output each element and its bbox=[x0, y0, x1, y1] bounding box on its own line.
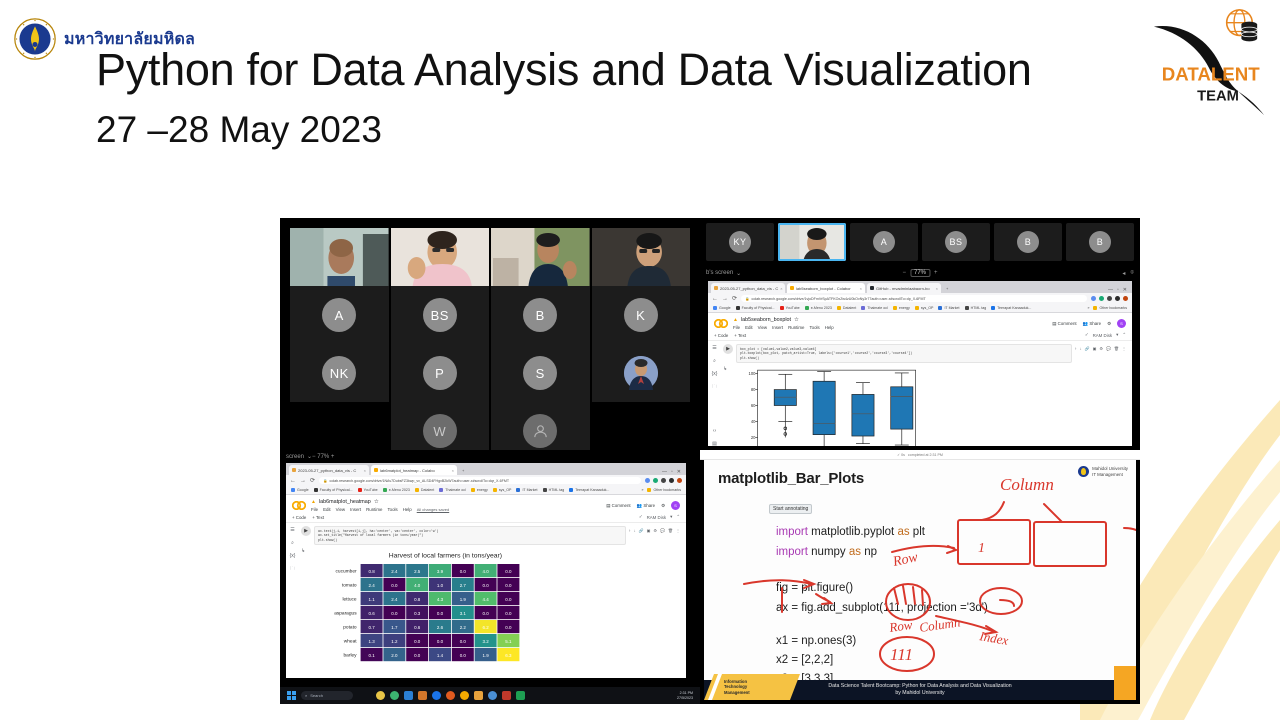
url-text: colab.research.google.com/drive/1NAv7Dub… bbox=[330, 479, 510, 483]
store-icon[interactable] bbox=[418, 691, 427, 700]
browser-tab-active[interactable]: lab5seaborn_boxplot - Colabor× bbox=[787, 283, 865, 293]
bookmark-icon bbox=[805, 306, 809, 310]
chevron-down-icon[interactable]: ▾ bbox=[1116, 332, 1118, 338]
colab-header: ▲ lab6matplot_heatmap ☆ File Edit View I… bbox=[286, 495, 686, 512]
star-icon[interactable]: ☆ bbox=[794, 317, 799, 323]
bookmark-label: sys_OP bbox=[921, 306, 934, 310]
participant-tile[interactable]: NK bbox=[290, 344, 389, 402]
heatmap-cell-value: 0.1 bbox=[368, 653, 375, 658]
bookmark-label: Faculty of Physical... bbox=[742, 306, 775, 310]
colab-actions: ▤ Comment 👥 Share ⚙ S bbox=[1052, 319, 1126, 328]
bookmarks-bar: Google Faculty of Physical... YouTube e-… bbox=[286, 486, 686, 495]
chevron-down-icon[interactable]: ▾ bbox=[670, 514, 672, 520]
bookmark-item[interactable]: Google bbox=[291, 488, 309, 492]
code-cell: ▶ ax.text(j,i, harvest[i,j], ha='center'… bbox=[301, 526, 680, 545]
colab-cell-toolbar: + Code + Text ✓ RAM Disk ▾ ⌃ bbox=[708, 330, 1132, 341]
heatmap-row-label: tomato bbox=[342, 583, 357, 589]
extension-icon[interactable] bbox=[1107, 296, 1112, 301]
comment-button[interactable]: ▤ Comment bbox=[1052, 321, 1076, 327]
colab-cell-toolbar: + Code + Text ✓ RAM Disk ▾ ⌃ bbox=[286, 512, 686, 523]
filmstrip-tile-active-speaker[interactable] bbox=[778, 223, 846, 261]
close-icon[interactable]: × bbox=[860, 286, 862, 291]
share-button[interactable]: 👥 Share bbox=[637, 503, 655, 509]
colab-body: ☰ ⌕ {x} 🗀 ▶ ax.text(j,i, harvest[i,j], h… bbox=[286, 523, 686, 678]
teams-icon[interactable] bbox=[488, 691, 497, 700]
bookmarks-overflow: » Other bookmarks bbox=[1087, 306, 1127, 310]
add-text-cell-button[interactable]: + Text bbox=[734, 333, 746, 338]
colab-logo-icon bbox=[714, 319, 728, 328]
annotation-111-circled: 111 bbox=[890, 645, 913, 664]
tag-line-3: Management bbox=[724, 690, 750, 695]
runtime-status: ✓ RAM Disk ▾ ⌃ bbox=[1085, 332, 1126, 338]
favicon-icon bbox=[292, 468, 296, 472]
bookmark-icon bbox=[938, 306, 942, 310]
brand-primary-text: DATALENT bbox=[1162, 64, 1260, 85]
colab-title-area: ▲ lab6matplot_heatmap ☆ File Edit View I… bbox=[311, 499, 601, 512]
heatmap-cell-value: 0.0 bbox=[437, 611, 444, 616]
avatar[interactable]: S bbox=[671, 501, 680, 510]
close-icon[interactable]: × bbox=[936, 286, 938, 291]
clock-time: 2:31 PM bbox=[677, 691, 693, 696]
avatar[interactable]: S bbox=[1117, 319, 1126, 328]
bookmark-item[interactable]: Teerapat Kanaaduk... bbox=[991, 306, 1031, 310]
bookmark-item[interactable]: YouTube bbox=[780, 306, 800, 310]
more-icon[interactable]: ⋮ bbox=[1122, 346, 1126, 351]
zoom-in-button[interactable]: + bbox=[331, 454, 335, 460]
menu-help[interactable]: Help bbox=[825, 325, 834, 330]
heatmap-cell-value: 0.0 bbox=[414, 639, 421, 644]
notebook-filename-row[interactable]: ▲ lab5seaborn_boxplot ☆ bbox=[733, 317, 1047, 323]
heatmap-svg: Harvest of local farmers (in tons/year) … bbox=[311, 548, 551, 672]
maximize-icon[interactable]: ▫ bbox=[1117, 287, 1119, 293]
participant-tile[interactable]: B bbox=[491, 286, 590, 344]
svg-text:80: 80 bbox=[751, 387, 756, 392]
bookmark-item[interactable]: HTML tag bbox=[543, 488, 565, 492]
start-annotating-button[interactable]: Start annotating bbox=[769, 504, 812, 514]
heatmap-cell-value: 0.7 bbox=[368, 625, 375, 630]
weather-icon[interactable] bbox=[376, 691, 385, 700]
check-icon: ✓ bbox=[639, 514, 643, 520]
heatmap-cell-value: 4.0 bbox=[482, 569, 489, 574]
zoom-out-button[interactable]: − bbox=[902, 270, 906, 276]
zoom-level-value: 77% bbox=[910, 269, 930, 277]
menu-help[interactable]: Help bbox=[403, 507, 412, 512]
code-line-ax: ax = fig.add_subplot(111, projection ='3… bbox=[776, 598, 988, 618]
heatmap-cell-value: 4.0 bbox=[414, 583, 421, 588]
person-icon bbox=[532, 423, 549, 440]
menu-file[interactable]: File bbox=[733, 325, 740, 330]
code-editor[interactable]: ax.text(j,i, harvest[i,j], ha='center', … bbox=[314, 526, 626, 545]
powerpoint-icon[interactable] bbox=[502, 691, 511, 700]
zoom-in-button[interactable]: + bbox=[934, 270, 938, 276]
bookmark-item[interactable]: YouTube bbox=[358, 488, 378, 492]
bookmark-item[interactable]: Thaimate ocl bbox=[439, 488, 466, 492]
browser-tab[interactable]: GitHub - mvadminlaabaorn-bo× bbox=[867, 283, 941, 293]
explorer-icon[interactable] bbox=[404, 691, 413, 700]
webcam-thumbnail bbox=[592, 228, 691, 286]
delete-icon[interactable]: 🗑 bbox=[668, 528, 673, 533]
copy-icon[interactable]: ▣ bbox=[647, 528, 651, 533]
participant-tile-video-3[interactable] bbox=[491, 228, 590, 286]
itm-tag-shape bbox=[704, 674, 800, 700]
colab-left-rail: ☰ ⌕ {x} 🗀 ‹› ▤ ▣ bbox=[708, 341, 721, 446]
menu-tools[interactable]: Tools bbox=[809, 325, 819, 330]
minimize-icon[interactable]: — bbox=[662, 469, 667, 475]
slide-code-figure: fig = plt.figure() ax = fig.add_subplot(… bbox=[776, 578, 988, 618]
heatmap-row-label: asparagus bbox=[334, 611, 357, 617]
annotation-index: Index bbox=[977, 628, 1009, 648]
delete-icon[interactable]: 🗑 bbox=[1114, 346, 1119, 351]
edge-icon[interactable] bbox=[432, 691, 441, 700]
close-icon[interactable]: × bbox=[780, 286, 782, 291]
menu-view[interactable]: View bbox=[336, 507, 345, 512]
new-tab-button[interactable]: + bbox=[943, 283, 951, 293]
bookmark-label: IT Market bbox=[944, 306, 959, 310]
search-input[interactable]: ⌕ Search bbox=[301, 691, 353, 700]
profile-photo-icon bbox=[624, 356, 658, 390]
reload-icon[interactable]: ⟳ bbox=[310, 477, 315, 484]
code-line-x1: x1 = np.ones(3) bbox=[776, 632, 856, 651]
clock-date: 27/5/2023 bbox=[677, 696, 693, 701]
mahidol-seal-icon bbox=[14, 18, 56, 60]
files-icon[interactable]: 🗀 bbox=[712, 384, 717, 392]
filmstrip-tile[interactable]: B bbox=[1066, 223, 1134, 261]
bookmark-label: Thaimate ocl bbox=[445, 488, 466, 492]
heatmap-cell-value: 1.0 bbox=[437, 583, 444, 588]
participant-tile[interactable]: BS bbox=[391, 286, 490, 344]
code-line: plt.show() bbox=[318, 538, 622, 542]
comment-icon[interactable]: 💬 bbox=[660, 528, 665, 533]
profile-avatar-icon[interactable] bbox=[677, 478, 682, 483]
gear-icon[interactable]: ⚙ bbox=[1107, 321, 1111, 327]
check-icon: ✓ bbox=[1085, 332, 1089, 338]
comment-icon[interactable]: 💬 bbox=[1106, 346, 1111, 351]
menu-insert[interactable]: Insert bbox=[772, 325, 783, 330]
browser-window-heatmap: 2023-05-27_python_data_vis - C× lab6matp… bbox=[286, 463, 686, 678]
address-bar[interactable]: 🔒colab.research.google.com/drive/1vjoDFm… bbox=[741, 295, 1087, 302]
boxplot-svg: 0 20 40 60 80 100 bbox=[733, 366, 943, 446]
participant-tile[interactable]: S bbox=[491, 344, 590, 402]
chrome-icon[interactable] bbox=[460, 691, 469, 700]
add-code-cell-button[interactable]: + Code bbox=[292, 515, 306, 520]
close-icon[interactable]: ✕ bbox=[677, 469, 681, 475]
bookmark-icon bbox=[439, 488, 443, 492]
colab-actions: ▤ Comment 👥 Share ⚙ S bbox=[606, 501, 680, 510]
extension-icon[interactable] bbox=[645, 478, 650, 483]
heatmap-cell-value: 0.0 bbox=[505, 569, 512, 574]
mu-line-1: Mahidol University bbox=[1092, 466, 1128, 471]
heatmap-row-label: barley bbox=[344, 653, 358, 659]
toc-icon[interactable]: ☰ bbox=[712, 345, 716, 351]
link-icon[interactable]: 🔗 bbox=[1085, 346, 1090, 351]
speaker-icon[interactable]: ◂ bbox=[1122, 270, 1125, 277]
browser-tab-strip: 2023-05-27_python_data_vis - C× lab5seab… bbox=[708, 281, 1132, 293]
gear-icon[interactable]: ⚙ bbox=[1099, 346, 1103, 351]
bookmark-item[interactable]: sys_OP bbox=[493, 488, 512, 492]
gear-icon[interactable]: ⚙ bbox=[661, 503, 665, 509]
heatmap-cell-value: 1.3 bbox=[368, 639, 375, 644]
ram-disk-label: RAM Disk bbox=[1093, 333, 1113, 338]
menu-runtime[interactable]: Runtime bbox=[788, 325, 804, 330]
taskbar-clock[interactable]: 2:31 PM 27/5/2023 bbox=[677, 691, 693, 700]
comment-button[interactable]: ▤ Comment bbox=[606, 503, 630, 509]
bookmark-label: IT Market bbox=[522, 488, 537, 492]
bookmark-item[interactable]: Datalent bbox=[837, 306, 856, 310]
avatar: A bbox=[322, 298, 356, 332]
url-text: colab.research.google.com/drive/1vjoDFmV… bbox=[752, 297, 926, 301]
extension-icon[interactable] bbox=[661, 478, 666, 483]
bookmark-item[interactable]: HTML tag bbox=[965, 306, 987, 310]
back-icon[interactable]: ← bbox=[712, 296, 718, 302]
execution-status-mini: ✓ 0s completed at 2:31 PM bbox=[897, 453, 943, 457]
browser-nav-bar: ← → ⟳ 🔒colab.research.google.com/drive/1… bbox=[708, 293, 1132, 304]
extension-icons bbox=[1091, 296, 1128, 301]
heatmap-cell-value: 5.1 bbox=[505, 639, 512, 644]
extension-icon[interactable] bbox=[1115, 296, 1120, 301]
page-subtitle-date: 27 –28 May 2023 bbox=[96, 104, 1126, 156]
menu-edit[interactable]: Edit bbox=[745, 325, 753, 330]
search-icon[interactable]: ⌕ bbox=[291, 540, 294, 546]
list-icon[interactable]: ▤ bbox=[712, 441, 717, 446]
options-icon[interactable]: ⌾ bbox=[1130, 270, 1134, 277]
other-bookmarks-label: Other bookmarks bbox=[1099, 306, 1127, 310]
collapse-icon[interactable]: ⌃ bbox=[1122, 332, 1126, 338]
share-button[interactable]: 👥 Share bbox=[1083, 321, 1101, 327]
folder-icon[interactable] bbox=[474, 691, 483, 700]
run-cell-button[interactable]: ▶ bbox=[301, 526, 311, 536]
zoom-filmstrip: KY A BS B B bbox=[700, 218, 1140, 266]
bookmark-icon bbox=[314, 488, 318, 492]
heatmap-row-label: wheat bbox=[344, 639, 357, 645]
annotation-row-2: Row bbox=[887, 617, 913, 635]
participant-tile-video-4[interactable] bbox=[592, 228, 691, 286]
browser-tab-active[interactable]: lab6matplot_heatmap - Colabo× bbox=[371, 465, 457, 475]
browser-window-boxplot: 2023-05-27_python_data_vis - C× lab5seab… bbox=[708, 281, 1132, 446]
shared-screen-heatmap-panel: screen ⌄ − 77% + 2023-05-27_python_data_… bbox=[280, 450, 700, 704]
bookmark-item[interactable]: IT Market bbox=[516, 488, 537, 492]
heatmap-cell-value: 0.0 bbox=[460, 639, 467, 644]
add-text-cell-button[interactable]: + Text bbox=[312, 515, 324, 520]
excel-icon[interactable] bbox=[516, 691, 525, 700]
cell-toolbar: ↑ ↓ 🔗 ▣ ⚙ 💬 🗑 ⋮ bbox=[629, 526, 680, 533]
chevron-down-icon[interactable]: » bbox=[641, 488, 643, 492]
bookmark-label: Google bbox=[297, 488, 309, 492]
move-up-icon[interactable]: ↑ bbox=[1075, 346, 1077, 351]
filmstrip-tile[interactable]: BS bbox=[922, 223, 990, 261]
collapse-icon[interactable]: ⌃ bbox=[676, 514, 680, 520]
start-icon[interactable] bbox=[287, 691, 296, 700]
bookmark-item[interactable]: sys_OP bbox=[915, 306, 934, 310]
star-icon[interactable]: ☆ bbox=[374, 499, 379, 505]
extension-icon[interactable] bbox=[1091, 296, 1096, 301]
maximize-icon[interactable]: ▫ bbox=[671, 469, 673, 475]
bookmark-item[interactable]: e-Menu 2023 bbox=[805, 306, 832, 310]
new-tab-button[interactable]: + bbox=[459, 465, 467, 475]
copy-icon[interactable]: ▣ bbox=[1093, 346, 1097, 351]
avatar: W bbox=[423, 414, 457, 448]
filmstrip-tile[interactable]: A bbox=[850, 223, 918, 261]
profile-avatar-icon[interactable] bbox=[1123, 296, 1128, 301]
avatar: BS bbox=[423, 298, 457, 332]
bookmark-icon bbox=[965, 306, 969, 310]
participant-tile[interactable] bbox=[592, 344, 691, 402]
bookmark-icon bbox=[736, 306, 740, 310]
variables-icon[interactable]: {x} bbox=[290, 553, 296, 559]
itm-tag-text: Information Technology Management bbox=[724, 679, 750, 695]
link-icon[interactable]: 🔗 bbox=[639, 528, 644, 533]
runtime-status: ✓ RAM Disk ▾ ⌃ bbox=[639, 514, 680, 520]
colab-notebook-boxplot: ▲ lab5seaborn_boxplot ☆ File Edit View I… bbox=[708, 313, 1132, 446]
files-icon[interactable]: 🗀 bbox=[290, 566, 295, 574]
browser-tab[interactable]: 2023-05-27_python_data_vis - C× bbox=[711, 283, 785, 293]
reload-icon[interactable]: ⟳ bbox=[732, 295, 737, 302]
extension-icon[interactable] bbox=[653, 478, 658, 483]
heatmap-cell-value: 2.4 bbox=[368, 583, 375, 588]
bookmark-item[interactable]: energy bbox=[893, 306, 910, 310]
code-line-x2: x2 = [2,2,2] bbox=[776, 651, 856, 670]
close-icon[interactable]: × bbox=[364, 468, 366, 473]
bookmark-item[interactable]: Google bbox=[713, 306, 731, 310]
code-editor[interactable]: box_plot = [value1,value2,value3,value4]… bbox=[736, 344, 1072, 363]
colab-cells: ▶ box_plot = [value1,value2,value3,value… bbox=[721, 341, 1132, 446]
firefox-icon[interactable] bbox=[446, 691, 455, 700]
heatmap-cell-value: 0.0 bbox=[391, 611, 398, 616]
address-bar[interactable]: 🔒colab.research.google.com/drive/1NAv7Du… bbox=[319, 477, 641, 484]
participant-tile-video-1[interactable] bbox=[290, 228, 389, 286]
notebook-filename: lab6matplot_heatmap bbox=[319, 499, 371, 505]
heatmap-cell-value: 0.0 bbox=[437, 639, 444, 644]
participant-tile-video-2[interactable] bbox=[391, 228, 490, 286]
close-icon[interactable]: × bbox=[452, 468, 454, 473]
heatmap-cell-value: 3.1 bbox=[460, 611, 467, 616]
notebook-filename: lab5seaborn_boxplot bbox=[741, 317, 791, 323]
move-down-icon[interactable]: ↓ bbox=[634, 528, 636, 533]
bookmark-item[interactable]: Thaimate ocl bbox=[861, 306, 888, 310]
add-code-cell-button[interactable]: + Code bbox=[714, 333, 728, 338]
cell-toolbar: ↑ ↓ 🔗 ▣ ⚙ 💬 🗑 ⋮ bbox=[1075, 344, 1126, 351]
slide-content: matplotlib_Bar_Plots Start annotating im… bbox=[704, 460, 1136, 700]
participant-tile[interactable]: K bbox=[592, 286, 691, 344]
browser-tab[interactable]: 2023-05-27_python_data_vis - C× bbox=[289, 465, 369, 475]
gear-icon[interactable]: ⚙ bbox=[653, 528, 657, 533]
avatar: S bbox=[523, 356, 557, 390]
back-icon[interactable]: ← bbox=[290, 478, 296, 484]
toc-icon[interactable]: ☰ bbox=[290, 527, 294, 533]
bookmark-icon bbox=[291, 488, 295, 492]
webcam-thumbnail bbox=[391, 228, 490, 286]
forward-icon[interactable]: → bbox=[722, 296, 728, 302]
output-arrow-icon: ↳ bbox=[301, 548, 307, 677]
menu-insert[interactable]: Insert bbox=[350, 507, 361, 512]
svg-text:20: 20 bbox=[751, 435, 756, 440]
extension-icon[interactable] bbox=[669, 478, 674, 483]
bookmark-label: Datalent bbox=[421, 488, 434, 492]
heatmap-row-label: potato bbox=[343, 625, 357, 631]
heatmap-cell-value: 0.0 bbox=[482, 583, 489, 588]
bookmark-item[interactable]: Teerapat Kanaaduk... bbox=[569, 488, 609, 492]
heatmap-cell-value: 0.0 bbox=[391, 583, 398, 588]
tab-label: lab5seaborn_boxplot - Colabor bbox=[796, 286, 851, 291]
filmstrip-tile[interactable]: KY bbox=[706, 223, 774, 261]
bookmark-icon bbox=[861, 306, 865, 310]
bookmark-item[interactable]: IT Market bbox=[938, 306, 959, 310]
search-icon[interactable]: ⌕ bbox=[713, 358, 716, 364]
avatar: KY bbox=[729, 231, 751, 253]
tab-label: lab6matplot_heatmap - Colabo bbox=[380, 468, 435, 473]
filmstrip-tile[interactable]: B bbox=[994, 223, 1062, 261]
participant-tile[interactable]: P bbox=[391, 344, 490, 402]
bookmark-icon bbox=[543, 488, 547, 492]
zoom-out-button[interactable]: − bbox=[312, 454, 316, 460]
zoom-level-control: − 77% + bbox=[312, 454, 334, 460]
slide-title: matplotlib_Bar_Plots bbox=[718, 470, 864, 487]
run-cell-button[interactable]: ▶ bbox=[723, 344, 733, 354]
cell-output: ↳ Harvest of local farmers (in tons/year… bbox=[301, 548, 680, 677]
widget-icon[interactable] bbox=[390, 691, 399, 700]
bookmark-icon bbox=[471, 488, 475, 492]
code-line-import-plt: import matplotlib.pyplot as plt bbox=[776, 522, 925, 542]
embedded-zoom-screenshot: A BS B K NK P S bbox=[280, 218, 1140, 704]
minimize-icon[interactable]: — bbox=[1108, 287, 1113, 293]
bookmark-label: Thaimate ocl bbox=[867, 306, 888, 310]
bookmark-item[interactable]: e-Menu 2023 bbox=[383, 488, 410, 492]
avatar: B bbox=[1017, 231, 1039, 253]
bookmark-item[interactable]: energy bbox=[471, 488, 488, 492]
bookmark-item[interactable]: Faculty of Physical... bbox=[314, 488, 353, 492]
heatmap-cell-value: 0.0 bbox=[505, 583, 512, 588]
other-bookmarks-folder[interactable]: Other bookmarks bbox=[1093, 306, 1127, 310]
other-bookmarks-folder[interactable]: Other bookmarks bbox=[647, 488, 681, 492]
close-icon[interactable]: ✕ bbox=[1123, 287, 1127, 293]
bookmark-icon bbox=[713, 306, 717, 310]
menu-edit[interactable]: Edit bbox=[323, 507, 331, 512]
terminal-icon[interactable]: ‹› bbox=[713, 428, 716, 434]
menu-file[interactable]: File bbox=[311, 507, 318, 512]
code-line-import-np: import numpy as np bbox=[776, 542, 925, 562]
extension-icon[interactable] bbox=[1099, 296, 1104, 301]
chevron-down-icon[interactable]: » bbox=[1087, 306, 1089, 310]
move-down-icon[interactable]: ↓ bbox=[1080, 346, 1082, 351]
bookmark-label: Teerapat Kanaaduk... bbox=[575, 488, 609, 492]
bookmark-item[interactable]: Datalent bbox=[415, 488, 434, 492]
screen-share-label: b's screen bbox=[706, 270, 733, 276]
screen-share-bar-bottom: screen ⌄ − 77% + bbox=[280, 450, 700, 463]
more-icon[interactable]: ⋮ bbox=[676, 528, 680, 533]
avatar: K bbox=[624, 298, 658, 332]
menu-view[interactable]: View bbox=[758, 325, 767, 330]
mahidol-logo-text: Mahidol University IT Management bbox=[1092, 466, 1128, 477]
forward-icon[interactable]: → bbox=[300, 478, 306, 484]
notebook-filename-row[interactable]: ▲ lab6matplot_heatmap ☆ bbox=[311, 499, 601, 505]
screen-share-label: screen bbox=[286, 454, 304, 460]
zoom-participant-gallery: A BS B K NK P S bbox=[280, 218, 700, 450]
participant-tile[interactable]: A bbox=[290, 286, 389, 344]
heatmap-figure: Harvest of local farmers (in tons/year) … bbox=[311, 548, 551, 677]
menu-tools[interactable]: Tools bbox=[387, 507, 397, 512]
variables-icon[interactable]: {x} bbox=[712, 371, 718, 377]
favicon-icon bbox=[790, 286, 794, 290]
slide-mini-toolbar: ✓ 0s completed at 2:31 PM bbox=[700, 450, 1140, 460]
menu-runtime[interactable]: Runtime bbox=[366, 507, 382, 512]
bookmark-item[interactable]: Faculty of Physical... bbox=[736, 306, 775, 310]
avatar: P bbox=[423, 356, 457, 390]
ram-disk-label: RAM Disk bbox=[647, 515, 667, 520]
chevron-down-icon[interactable]: ⌄ bbox=[736, 270, 741, 277]
colab-notebook-heatmap: ▲ lab6matplot_heatmap ☆ File Edit View I… bbox=[286, 495, 686, 678]
folder-icon bbox=[1093, 306, 1097, 310]
favicon-icon bbox=[374, 468, 378, 472]
move-up-icon[interactable]: ↑ bbox=[629, 528, 631, 533]
